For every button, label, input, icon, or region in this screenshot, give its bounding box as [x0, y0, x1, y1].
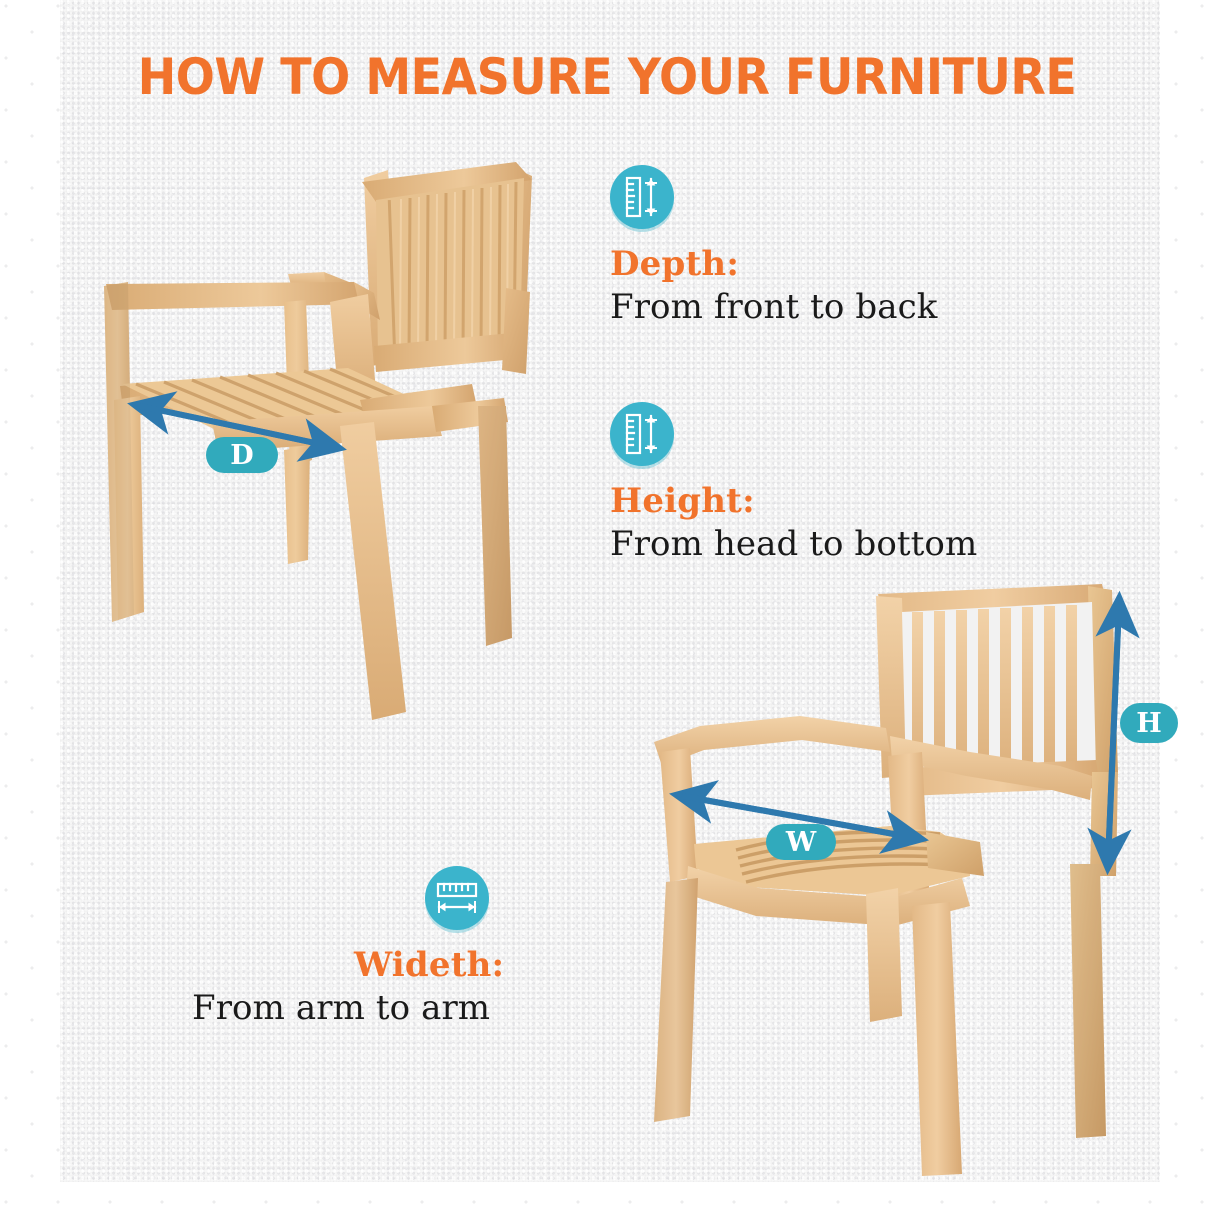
measurement-desc-width: From arm to arm	[192, 990, 504, 1027]
infographic-canvas: HOW TO MEASURE YOUR FURNITURE	[0, 0, 1214, 1214]
measurement-block-height: Height: From head to bottom	[610, 402, 977, 563]
horizontal-ruler-arrow-icon	[425, 866, 489, 930]
vertical-ruler-arrow-icon	[610, 165, 674, 229]
chair-illustration-width-height	[640, 576, 1130, 1176]
measurement-term-width: Wideth:	[354, 948, 504, 984]
page-title: HOW TO MEASURE YOUR FURNITURE	[49, 48, 1166, 106]
measurement-block-depth: Depth: From front to back	[610, 165, 937, 326]
height-marker-badge: H	[1120, 703, 1178, 743]
measurement-term-depth: Depth:	[610, 247, 937, 283]
measurement-term-height: Height:	[610, 484, 977, 520]
width-marker-badge: W	[766, 824, 836, 860]
measurement-desc-depth: From front to back	[610, 289, 937, 326]
depth-marker-badge: D	[206, 437, 278, 473]
chair-illustration-depth	[92, 160, 562, 730]
measurement-desc-height: From head to bottom	[610, 526, 977, 563]
measurement-block-width: Wideth: From arm to arm	[192, 866, 504, 1027]
vertical-ruler-arrow-icon	[610, 402, 674, 466]
